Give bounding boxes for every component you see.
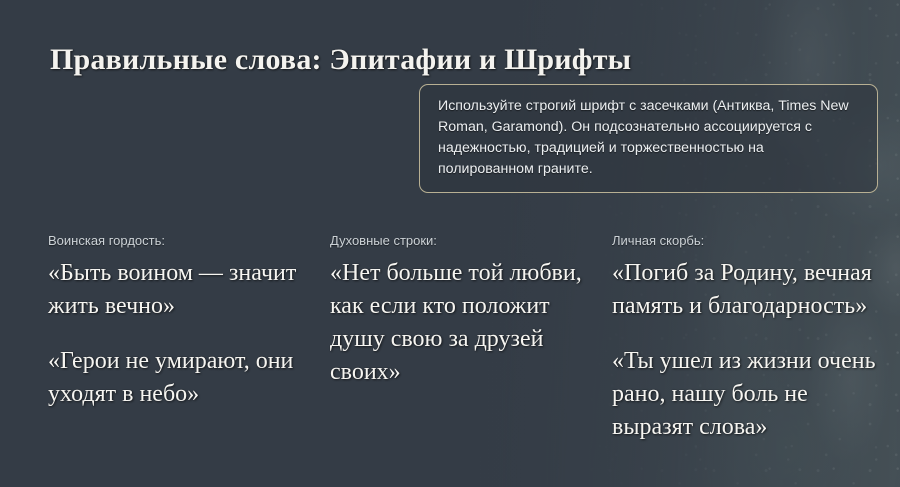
column-label-military-pride: Воинская гордость: — [48, 232, 314, 249]
font-advice-text: Используйте строгий шрифт с засечками (А… — [438, 96, 859, 180]
epitaph-quote: «Ты ушел из жизни очень рано, нашу боль … — [612, 345, 888, 444]
page-title: Правильные слова: Эпитафии и Шрифты — [50, 42, 631, 78]
font-advice-callout: Используйте строгий шрифт с засечками (А… — [419, 84, 878, 193]
epitaph-quote: «Быть воином — значит жить вечно» — [48, 257, 314, 323]
column-label-spiritual-lines: Духовные строки: — [330, 232, 594, 249]
column-military-pride: Воинская гордость: «Быть воином — значит… — [48, 232, 330, 444]
slide-canvas: Правильные слова: Эпитафии и Шрифты Испо… — [0, 0, 900, 487]
epitaph-quote: «Герои не умирают, они уходят в небо» — [48, 345, 314, 411]
epitaph-quote: «Погиб за Родину, вечная память и благод… — [612, 257, 888, 323]
column-personal-grief: Личная скорбь: «Погиб за Родину, вечная … — [612, 232, 888, 444]
epitaph-columns: Воинская гордость: «Быть воином — значит… — [48, 232, 888, 444]
column-label-personal-grief: Личная скорбь: — [612, 232, 888, 249]
column-spiritual-lines: Духовные строки: «Нет больше той любви, … — [330, 232, 612, 444]
epitaph-quote: «Нет больше той любви, как если кто поло… — [330, 257, 594, 389]
